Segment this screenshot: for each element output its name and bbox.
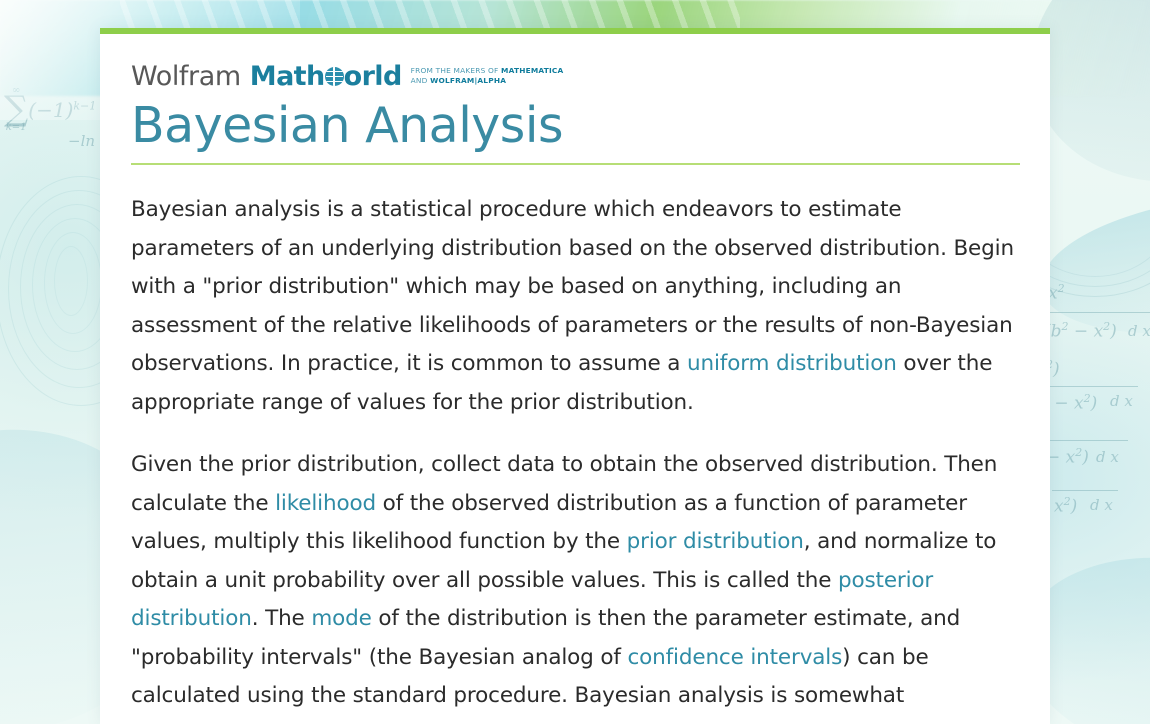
- article-link[interactable]: prior distribution: [627, 529, 804, 554]
- background-fraction-rule-4: [1052, 490, 1118, 491]
- tagline-line2-prefix: AND: [411, 76, 430, 85]
- background-fraction-rule-3: [1044, 440, 1128, 441]
- logo-math-text: Math: [250, 63, 325, 90]
- logo-wolfram-text: Wolfram: [131, 63, 241, 90]
- tagline-line-2: AND WOLFRAM|ALPHA: [411, 76, 506, 85]
- page-root: ∞ ∑ k=1 (−1)k−1 −ln x2 (b2 − x2) d x 2) …: [0, 0, 1150, 724]
- card-inner: Wolfram Math orld FROM THE MAKERS OF MAT…: [100, 34, 1050, 724]
- tagline-line1-prefix: FROM THE MAKERS OF: [411, 66, 501, 75]
- site-logo[interactable]: Wolfram Math orld FROM THE MAKERS OF MAT…: [131, 56, 1020, 90]
- page-title: Bayesian Analysis: [131, 100, 1020, 163]
- article-link[interactable]: posterior distribution: [131, 568, 933, 632]
- background-formula-dx-3: d x: [1096, 448, 1119, 466]
- logo-world-text: orld: [344, 63, 402, 90]
- tagline-line-1: FROM THE MAKERS OF MATHEMATICA: [411, 66, 564, 75]
- background-formula-x2d: x2): [1054, 495, 1077, 517]
- tagline-line2-bold: WOLFRAM|ALPHA: [430, 76, 506, 85]
- paragraph-1: Bayesian analysis is a statistical proce…: [131, 191, 1020, 422]
- content-card: Wolfram Math orld FROM THE MAKERS OF MAT…: [100, 28, 1050, 724]
- background-formula-dx-2: d x: [1110, 392, 1133, 410]
- background-formula-x2c: − x2): [1046, 446, 1089, 468]
- logo-tagline: FROM THE MAKERS OF MATHEMATICA AND WOLFR…: [411, 66, 564, 90]
- background-formula-dx-4: d x: [1090, 496, 1113, 514]
- tagline-line1-bold: MATHEMATICA: [501, 66, 563, 75]
- background-formula-x2: x2: [1048, 282, 1065, 304]
- logo-mathworld-text: Math orld: [250, 63, 402, 90]
- background-formula-ln: −ln: [68, 132, 95, 150]
- article-link[interactable]: mode: [311, 606, 371, 631]
- background-formula-b2x2: (b2 − x2): [1044, 320, 1117, 342]
- title-divider: [131, 163, 1020, 165]
- article-link[interactable]: confidence intervals: [627, 645, 842, 670]
- background-fraction-rule-1: [1042, 312, 1150, 313]
- background-formula-x2b: 2 − x2): [1042, 392, 1097, 414]
- background-fraction-rule-2: [1042, 386, 1138, 387]
- article-body: Bayesian analysis is a statistical proce…: [131, 191, 1020, 724]
- article-link[interactable]: likelihood: [275, 491, 376, 516]
- article-link[interactable]: uniform distribution: [687, 351, 897, 376]
- background-formula-dx-1: d x: [1128, 322, 1150, 340]
- globe-icon: [325, 67, 344, 86]
- paragraph-2: Given the prior distribution, collect da…: [131, 446, 1020, 724]
